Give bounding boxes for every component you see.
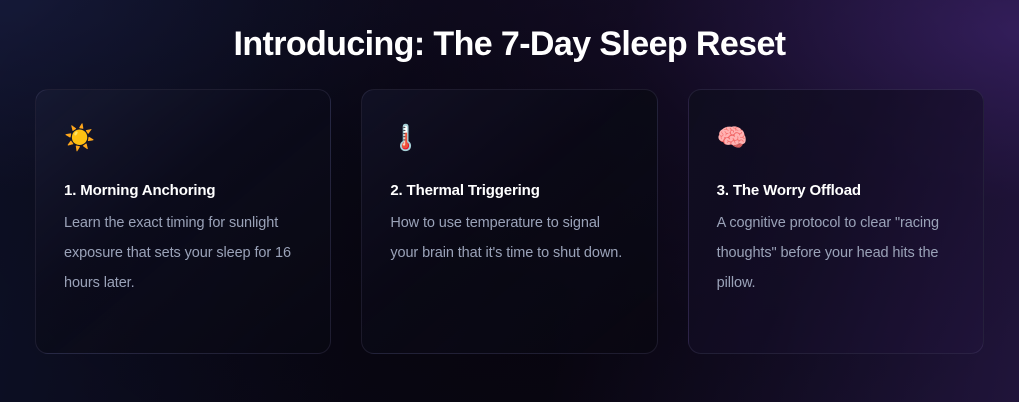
feature-card-description: A cognitive protocol to clear "racing th… — [717, 208, 955, 298]
feature-card-title: 3. The Worry Offload — [717, 181, 955, 201]
feature-card-worry-offload[interactable]: 🧠 3. The Worry Offload A cognitive proto… — [688, 89, 984, 354]
sun-icon: ☀️ — [64, 126, 302, 154]
feature-card-list: ☀️ 1. Morning Anchoring Learn the exact … — [0, 65, 1019, 354]
thermometer-icon: 🌡️ — [390, 126, 628, 154]
feature-card-thermal-triggering[interactable]: 🌡️ 2. Thermal Triggering How to use temp… — [361, 89, 657, 354]
feature-card-morning-anchoring[interactable]: ☀️ 1. Morning Anchoring Learn the exact … — [35, 89, 331, 354]
promo-section: Introducing: The 7-Day Sleep Reset ☀️ 1.… — [0, 0, 1019, 402]
feature-card-description: How to use temperature to signal your br… — [390, 208, 628, 268]
page-title: Introducing: The 7-Day Sleep Reset — [0, 0, 1019, 65]
feature-card-title: 2. Thermal Triggering — [390, 181, 628, 201]
feature-card-description: Learn the exact timing for sunlight expo… — [64, 208, 302, 298]
brain-icon: 🧠 — [717, 126, 955, 154]
feature-card-title: 1. Morning Anchoring — [64, 181, 302, 201]
